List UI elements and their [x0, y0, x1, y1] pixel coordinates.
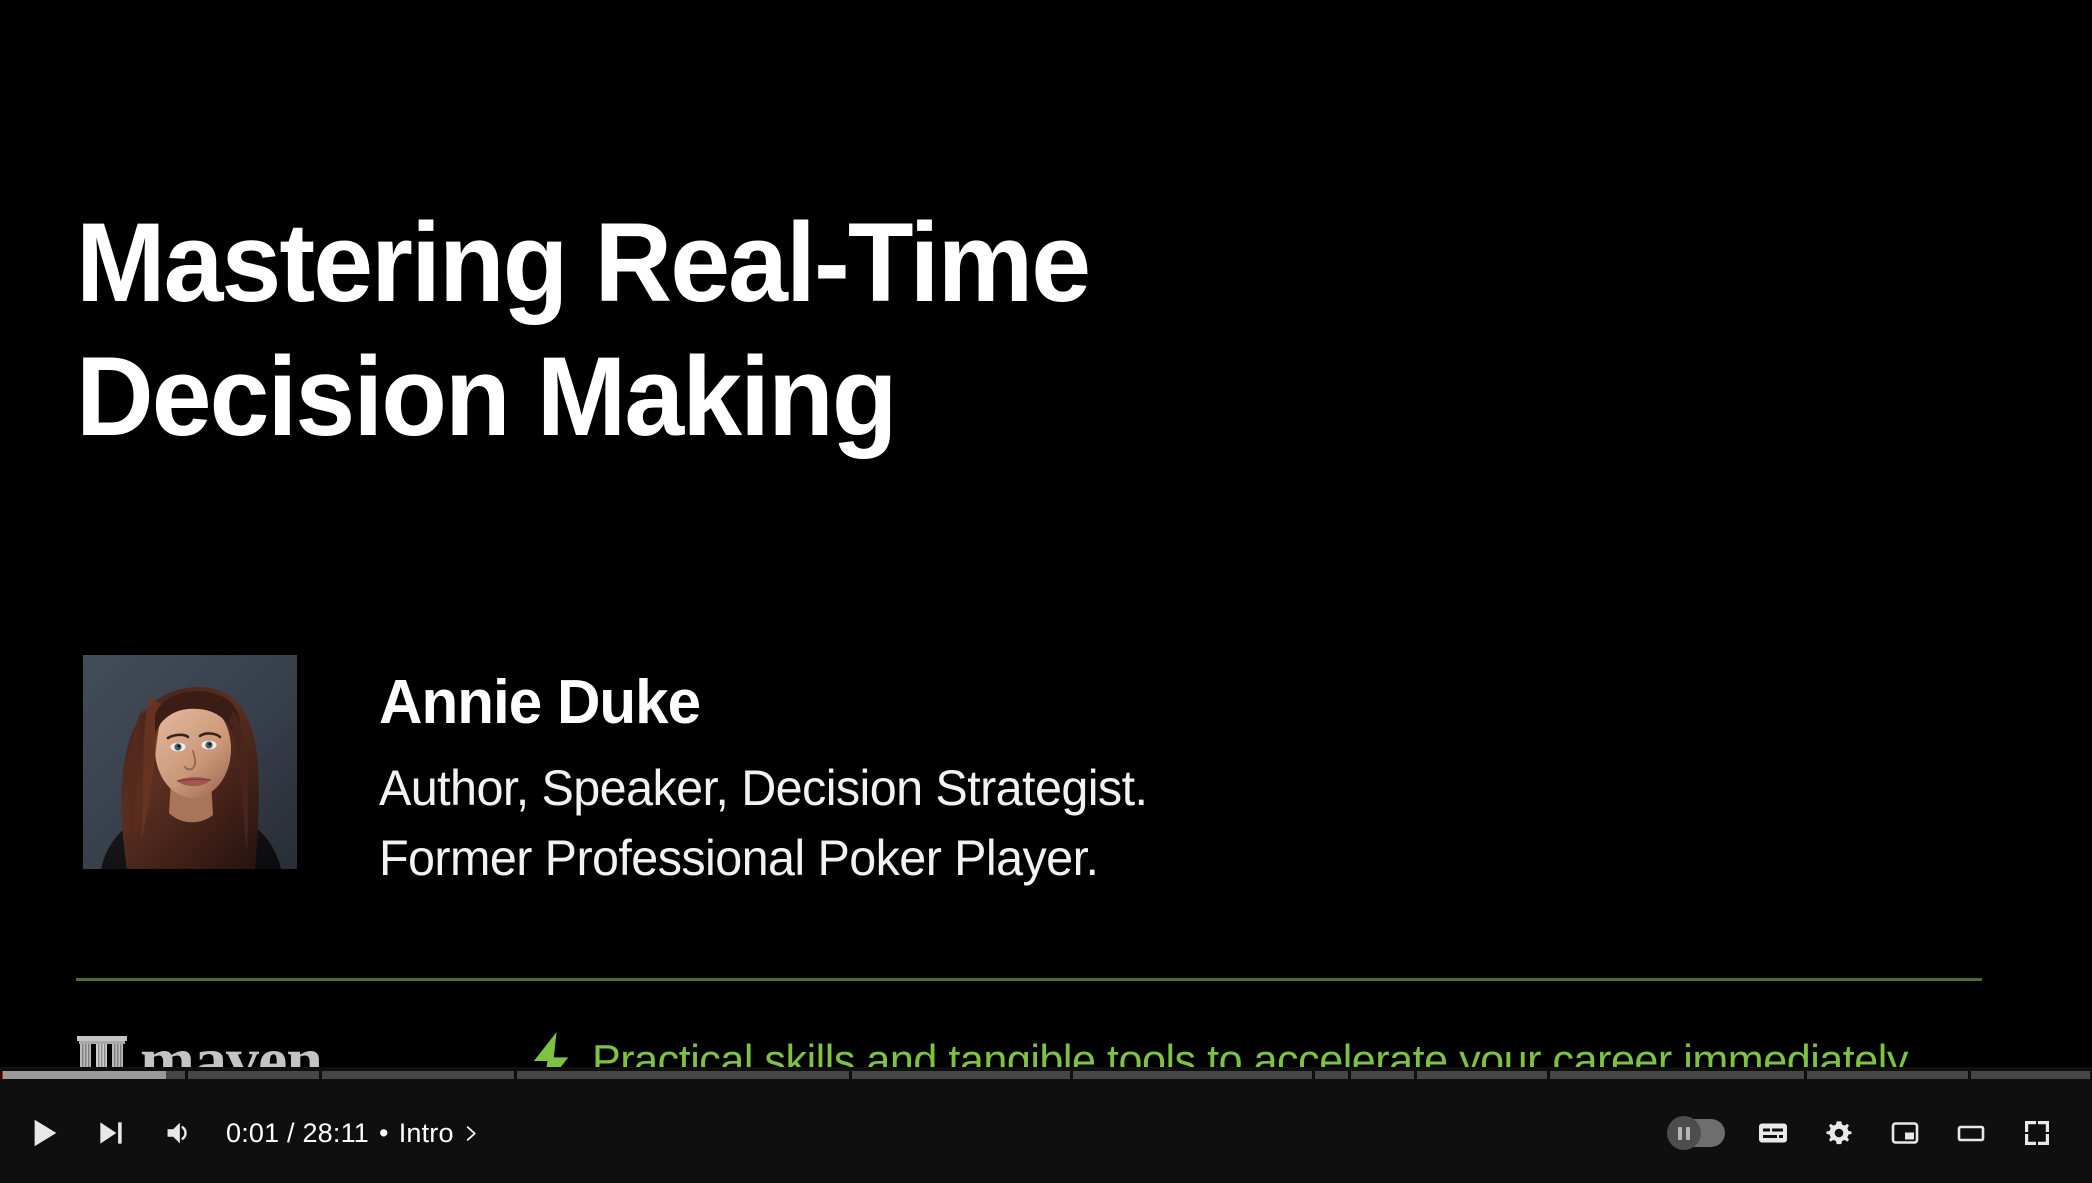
- progress-chapter-segment[interactable]: [1550, 1071, 1805, 1079]
- closed-captions-icon: [1754, 1114, 1792, 1152]
- theater-mode-button[interactable]: [1938, 1100, 2004, 1166]
- fullscreen-icon: [2019, 1115, 2055, 1151]
- progress-chapter-segment[interactable]: [1351, 1071, 1415, 1079]
- chapter-title-link[interactable]: Intro: [399, 1118, 479, 1148]
- settings-button[interactable]: [1806, 1100, 1872, 1166]
- time-display: 0:01 / 28:11 • Intro: [226, 1118, 479, 1148]
- chevron-right-icon: [462, 1125, 479, 1142]
- miniplayer-icon: [1887, 1115, 1923, 1151]
- time-text: 0:01 / 28:11: [226, 1118, 369, 1148]
- progress-chapter-segment[interactable]: [2, 1071, 185, 1079]
- autoplay-toggle-button[interactable]: [1654, 1100, 1740, 1166]
- progress-chapter-segment[interactable]: [1315, 1071, 1348, 1079]
- right-controls: [1654, 1100, 2092, 1166]
- play-button[interactable]: [12, 1100, 78, 1166]
- time-chapter-separator: •: [379, 1118, 389, 1148]
- video-frame-slide[interactable]: Mastering Real-Time Decision Making: [0, 0, 2092, 1120]
- progress-chapter-segment[interactable]: [1807, 1071, 1967, 1079]
- progress-chapter-segment[interactable]: [1073, 1071, 1311, 1079]
- progress-chapter-segment[interactable]: [852, 1071, 1070, 1079]
- speaker-portrait-photo: [83, 655, 297, 869]
- progress-loaded: [2, 1071, 166, 1079]
- progress-chapter-segment[interactable]: [1971, 1071, 2090, 1079]
- speaker-role: Author, Speaker, Decision Strategist. Fo…: [379, 753, 1147, 893]
- progress-bar[interactable]: [0, 1071, 2092, 1079]
- left-controls: 0:01 / 28:11 • Intro: [0, 1100, 479, 1166]
- speaker-block: Annie Duke Author, Speaker, Decision Str…: [83, 655, 1171, 893]
- pause-bar-right: [1686, 1127, 1690, 1140]
- slide-divider: [76, 978, 1982, 981]
- gear-icon: [1821, 1115, 1857, 1151]
- fullscreen-button[interactable]: [2004, 1100, 2070, 1166]
- pause-bar-left: [1678, 1127, 1682, 1140]
- play-icon: [28, 1116, 62, 1150]
- autoplay-toggle-track: [1669, 1119, 1725, 1147]
- progress-chapter-segment[interactable]: [188, 1071, 320, 1079]
- slide-title: Mastering Real-Time Decision Making: [76, 196, 1324, 464]
- progress-chapter-segment[interactable]: [1417, 1071, 1546, 1079]
- theater-mode-icon: [1953, 1115, 1989, 1151]
- miniplayer-button[interactable]: [1872, 1100, 1938, 1166]
- next-video-button[interactable]: [78, 1100, 144, 1166]
- video-player: Mastering Real-Time Decision Making: [0, 0, 2092, 1183]
- next-track-icon: [95, 1117, 127, 1149]
- volume-icon: [160, 1116, 194, 1150]
- chapter-title-text: Intro: [399, 1118, 454, 1148]
- speaker-text-block: Annie Duke Author, Speaker, Decision Str…: [379, 655, 1171, 893]
- volume-button[interactable]: [144, 1100, 210, 1166]
- subtitles-button[interactable]: [1740, 1100, 1806, 1166]
- progress-chapter-segment[interactable]: [322, 1071, 513, 1079]
- control-button-row: 0:01 / 28:11 • Intro: [0, 1083, 2092, 1183]
- autoplay-toggle-knob: [1667, 1116, 1701, 1150]
- player-control-bar: 0:01 / 28:11 • Intro: [0, 1067, 2092, 1183]
- progress-played: [2, 1071, 3, 1079]
- progress-chapter-segment[interactable]: [517, 1071, 850, 1079]
- speaker-name: Annie Duke: [379, 667, 1147, 739]
